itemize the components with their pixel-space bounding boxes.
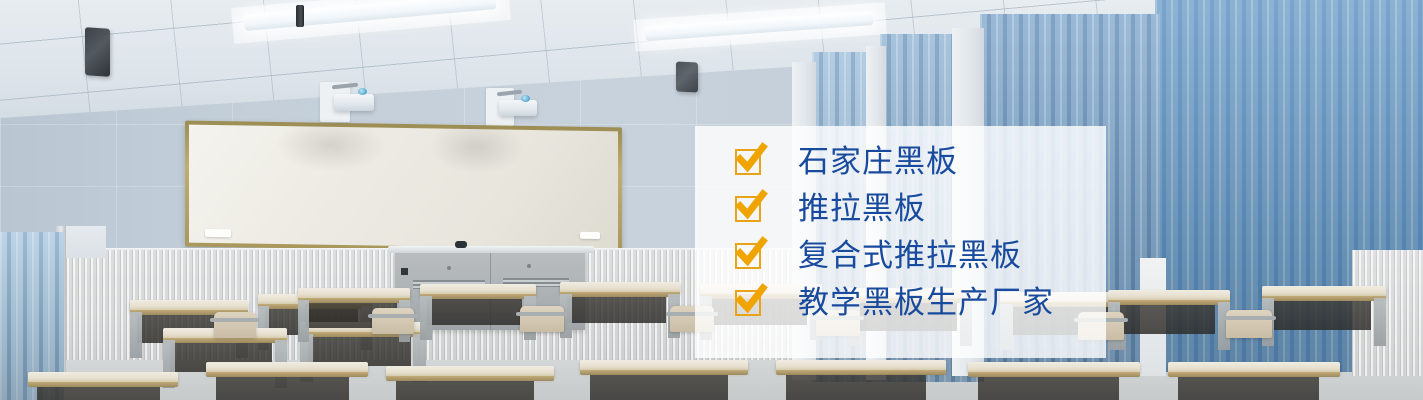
hero-banner: 石家庄黑板 推拉黑板 复合式推拉黑板: [0, 0, 1423, 400]
projector-lens-icon: [521, 95, 530, 102]
whiteboard-shadow: [429, 119, 523, 175]
desk-side: [298, 300, 309, 342]
wall-speaker-icon: [676, 61, 698, 92]
cabinet-top-rail: [388, 246, 594, 253]
checkbox-checked-icon[interactable]: [735, 196, 761, 222]
student-desk: [968, 362, 1140, 400]
cabinet-port: [401, 268, 408, 275]
checkbox-checked-icon[interactable]: [735, 243, 761, 269]
wall-speaker-icon: [85, 27, 110, 77]
student-chair: [520, 306, 564, 332]
student-desk: [206, 362, 368, 400]
student-desk: [386, 366, 554, 400]
student-desk: [580, 360, 748, 400]
desk-cubby: [1269, 301, 1371, 330]
desk-cubby: [978, 377, 1119, 400]
feature-list-panel: 石家庄黑板 推拉黑板 复合式推拉黑板: [695, 126, 1106, 358]
left-wall-segment: [66, 226, 106, 258]
projector-lens-icon: [358, 88, 367, 95]
feature-list-item[interactable]: 石家庄黑板: [735, 142, 958, 182]
feature-list-item-label: 推拉黑板: [798, 189, 926, 229]
chair-frame: [516, 312, 568, 316]
student-desk: [1262, 286, 1386, 334]
chair-frame: [368, 314, 418, 318]
feature-list-item-label: 复合式推拉黑板: [798, 236, 1022, 276]
whiteboard-shadow: [275, 117, 387, 173]
student-desk: [1168, 362, 1340, 400]
student-desk: [420, 284, 536, 328]
projector-icon: [334, 94, 374, 111]
whiteboard-eraser-icon: [205, 229, 231, 237]
checkbox-checked-icon[interactable]: [735, 290, 761, 316]
desk-cubby: [1178, 377, 1319, 400]
student-desk: [776, 360, 946, 400]
student-desk: [560, 282, 680, 326]
desk-cubby: [567, 297, 665, 323]
cabinet-knob: [527, 264, 531, 268]
desk-cubby: [427, 299, 522, 325]
desk-cubby: [590, 375, 728, 400]
student-desk: [1108, 290, 1230, 338]
chair-frame: [1222, 316, 1276, 320]
checkbox-checked-icon[interactable]: [735, 149, 761, 175]
feature-list-item[interactable]: 推拉黑板: [735, 189, 926, 229]
desk-side: [1374, 298, 1386, 346]
feature-list: 石家庄黑板 推拉黑板 复合式推拉黑板: [695, 126, 1106, 358]
student-chair: [214, 312, 256, 338]
desk-cubby: [786, 375, 925, 400]
desk-cubby: [216, 377, 349, 400]
desk-side: [130, 312, 142, 358]
desk-cubby: [37, 387, 160, 400]
whiteboard-eraser-icon: [580, 232, 600, 239]
desk-cubby: [396, 381, 534, 400]
desk-cubby: [1115, 305, 1215, 334]
ceiling-sensor-icon: [296, 5, 304, 27]
cabinet-camera-icon: [455, 241, 467, 248]
whiteboard-surface: [189, 125, 618, 250]
cabinet-knob: [447, 266, 451, 270]
feature-list-item[interactable]: 复合式推拉黑板: [735, 236, 1022, 276]
whiteboard: [185, 121, 622, 254]
desk-side: [420, 296, 432, 340]
projector-icon: [499, 100, 537, 116]
feature-list-item[interactable]: 教学黑板生产厂家: [735, 283, 1054, 323]
feature-list-item-label: 教学黑板生产厂家: [798, 283, 1054, 323]
feature-list-item-label: 石家庄黑板: [798, 142, 958, 182]
student-chair: [372, 308, 414, 334]
chair-frame: [210, 318, 260, 322]
student-desk: [28, 372, 178, 400]
student-chair: [1226, 310, 1272, 338]
